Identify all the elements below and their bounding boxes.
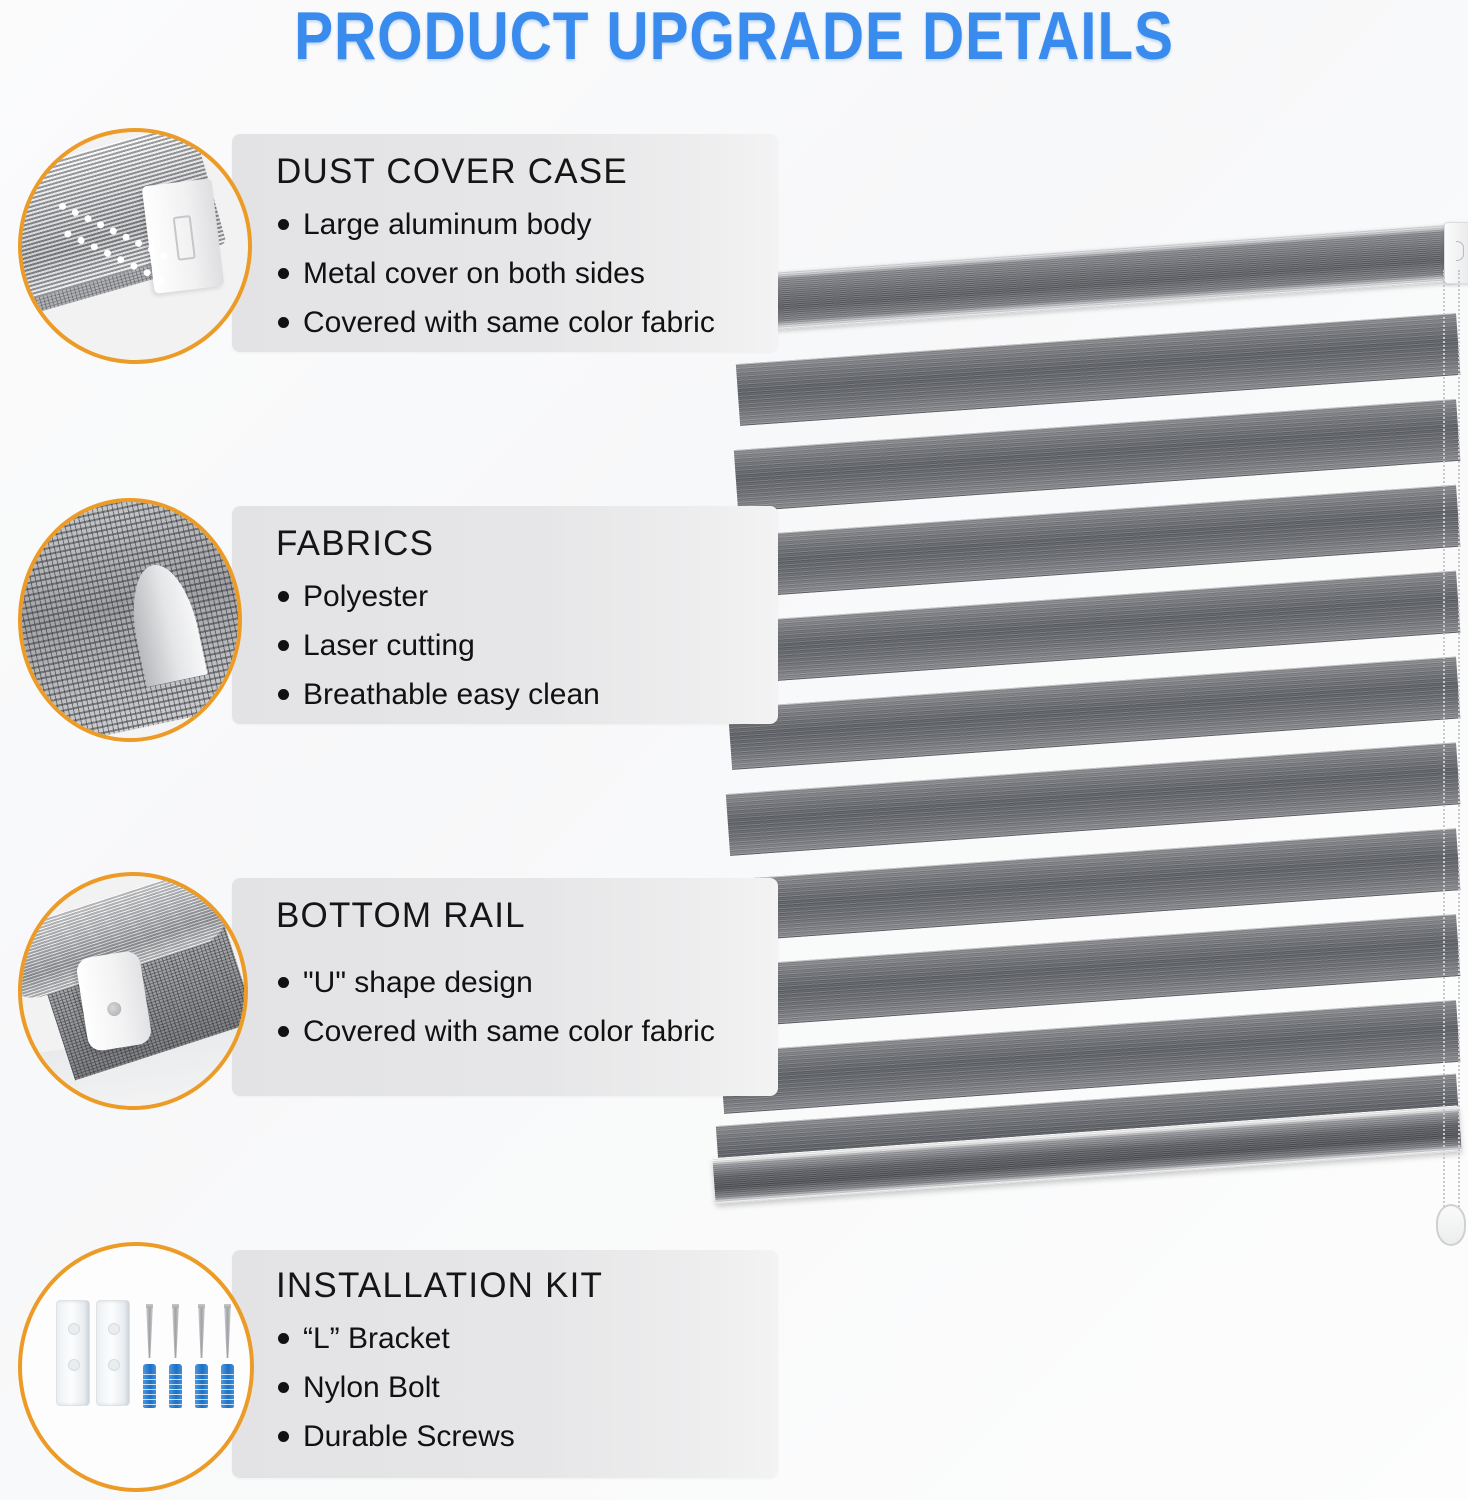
list-item: Polyester [278,572,600,621]
bullets-dust-cover-case: Large aluminum body Metal cover on both … [278,200,715,347]
bullet-dot [278,1333,289,1344]
list-item: Covered with same color fabric [278,298,715,347]
thumb-fabrics [18,498,242,742]
list-item: Metal cover on both sides [278,249,715,298]
bullets-bottom-rail: "U" shape design Covered with same color… [278,958,715,1056]
screw-icon [146,1304,153,1358]
bullet-dot [278,689,289,700]
thumb-installation-kit [18,1242,254,1492]
polyester-fabric-sheet [18,498,242,742]
nylon-anchor-icon [169,1364,182,1408]
nylon-anchor-icon [221,1364,234,1408]
bead-chain[interactable] [1443,270,1460,1222]
l-bracket-icon [96,1300,130,1406]
bullets-installation-kit: “L” Bracket Nylon Bolt Durable Screws [278,1314,515,1461]
thumb-bottom-rail [18,872,248,1110]
bullet-dot [278,591,289,602]
list-item-label: “L” Bracket [303,1314,450,1363]
list-item-label: Breathable easy clean [303,670,600,719]
list-item: Covered with same color fabric [278,1007,715,1056]
list-item-label: Polyester [303,572,428,621]
list-item-label: Durable Screws [303,1412,515,1461]
product-upgrade-infographic: PRODUCT UPGRADE DETAILS DUST COVER CASE … [0,0,1468,1500]
list-item-label: Laser cutting [303,621,475,670]
installation-kit-parts [56,1296,236,1408]
screw-icon [198,1304,205,1358]
chain-tensioner[interactable] [1436,1204,1466,1246]
heading-dust-cover-case: DUST COVER CASE [276,152,628,192]
bullet-dot [278,977,289,988]
bullet-dot [278,1026,289,1037]
bullet-dot [278,219,289,230]
nylon-anchor-icon [195,1364,208,1408]
heading-bottom-rail: BOTTOM RAIL [276,896,526,936]
list-item-label: Large aluminum body [303,200,592,249]
screw-icon [224,1304,231,1358]
list-item: Breathable easy clean [278,670,600,719]
list-item: Large aluminum body [278,200,715,249]
screw-icon [172,1304,179,1358]
list-item: "U" shape design [278,958,715,1007]
list-item: “L” Bracket [278,1314,515,1363]
list-item: Laser cutting [278,621,600,670]
dust-cover-headrail [714,224,1458,334]
bullets-fabrics: Polyester Laser cutting Breathable easy … [278,572,600,719]
bullet-dot [278,317,289,328]
bullet-dot [278,1382,289,1393]
list-item-label: Covered with same color fabric [303,298,715,347]
list-item-label: "U" shape design [303,958,533,1007]
page-title: PRODUCT UPGRADE DETAILS [103,2,1365,70]
list-item-label: Nylon Bolt [303,1363,440,1412]
screw-head-icon [106,1001,122,1017]
list-item-label: Covered with same color fabric [303,1007,715,1056]
heading-fabrics: FABRICS [276,524,434,564]
list-item: Nylon Bolt [278,1363,515,1412]
list-item-label: Metal cover on both sides [303,249,645,298]
zebra-roller-blind-image [706,214,1468,1304]
bullet-dot [278,640,289,651]
list-item: Durable Screws [278,1412,515,1461]
nylon-anchor-icon [143,1364,156,1408]
heading-installation-kit: INSTALLATION KIT [276,1266,603,1306]
bullet-dot [278,268,289,279]
l-bracket-icon [56,1300,90,1406]
thumb-dust-cover-case [18,128,252,364]
bullet-dot [278,1431,289,1442]
